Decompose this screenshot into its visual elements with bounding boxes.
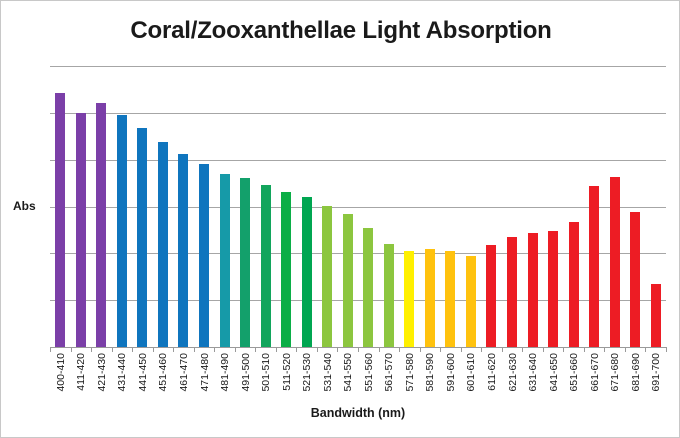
x-axis-tick [132, 347, 133, 352]
bar [220, 174, 230, 347]
x-axis-tick [399, 347, 400, 352]
x-axis-tick-label: 431-440 [116, 353, 127, 392]
bar [548, 231, 558, 347]
bar-series [50, 66, 666, 347]
x-axis-tick-label: 411-420 [75, 353, 86, 391]
bar [528, 233, 538, 347]
bar [96, 103, 106, 347]
x-axis-tick-label: 561-570 [383, 353, 394, 392]
bar [589, 186, 599, 347]
bar [281, 192, 291, 347]
x-axis-tick [625, 347, 626, 352]
x-axis-title: Bandwidth (nm) [50, 406, 666, 420]
bar [610, 177, 620, 347]
x-axis-tick [112, 347, 113, 352]
x-axis-tick [358, 347, 359, 352]
x-axis-tick [543, 347, 544, 352]
x-axis-tick [522, 347, 523, 352]
bar [343, 214, 353, 347]
x-axis-tick-label: 661-670 [589, 353, 600, 392]
x-axis-tick [604, 347, 605, 352]
bar [507, 237, 517, 347]
x-axis-tick-label: 421-430 [96, 353, 107, 392]
bar [55, 93, 65, 347]
bar [261, 185, 271, 348]
bar [630, 212, 640, 347]
x-axis-tick-label: 581-590 [424, 353, 435, 392]
x-axis-tick [379, 347, 380, 352]
bar [137, 128, 147, 347]
chart-title: Coral/Zooxanthellae Light Absorption [1, 17, 680, 45]
x-axis-tick [194, 347, 195, 352]
x-axis-tick-label: 571-580 [404, 353, 415, 392]
x-axis-tick-label: 601-610 [465, 353, 476, 392]
x-axis-tick-label: 451-460 [157, 353, 168, 392]
chart-container: Coral/Zooxanthellae Light Absorption Abs… [0, 0, 680, 438]
x-axis-tick [584, 347, 585, 352]
bar [240, 178, 250, 347]
x-axis-tick [276, 347, 277, 352]
x-axis-tick-label: 651-660 [568, 353, 579, 392]
x-axis-tick [50, 347, 51, 352]
x-axis-tick-label: 611-620 [486, 353, 497, 391]
bar [569, 222, 579, 347]
x-axis-tick [502, 347, 503, 352]
x-axis-tick-label: 671-680 [609, 353, 620, 392]
bar [76, 113, 86, 347]
x-axis-tick-label: 481-490 [219, 353, 230, 392]
x-axis-tick-label: 461-470 [178, 353, 189, 392]
x-axis-tick-label: 491-500 [240, 353, 251, 392]
x-axis-tick-label: 641-650 [548, 353, 559, 392]
bar [322, 206, 332, 347]
bar [384, 244, 394, 348]
x-axis-tick [420, 347, 421, 352]
x-axis-tick [317, 347, 318, 352]
bar [466, 256, 476, 347]
x-axis-tick-label: 621-630 [507, 353, 518, 392]
bar [486, 245, 496, 347]
x-axis-tick-label: 521-530 [301, 353, 312, 392]
bar [199, 164, 209, 347]
x-axis-tick [173, 347, 174, 352]
x-axis-tick [91, 347, 92, 352]
x-axis-tick-label: 691-700 [650, 353, 661, 392]
x-axis-tick-label: 681-690 [630, 353, 641, 392]
x-axis-tick-label: 471-480 [199, 353, 210, 392]
x-axis-tick [461, 347, 462, 352]
x-axis-tick [481, 347, 482, 352]
x-axis-tick-label: 631-640 [527, 353, 538, 392]
x-axis-tick [153, 347, 154, 352]
plot-area [50, 66, 666, 347]
x-axis-tick [563, 347, 564, 352]
x-axis-tick [296, 347, 297, 352]
x-axis-tick-label: 531-540 [322, 353, 333, 392]
x-axis-tick-label: 551-560 [363, 353, 374, 392]
x-axis-tick [440, 347, 441, 352]
bar [158, 142, 168, 347]
x-axis-tick [255, 347, 256, 352]
x-axis-tick-label: 501-510 [260, 353, 271, 392]
bar [178, 154, 188, 347]
x-axis-tick-label: 511-520 [281, 353, 292, 391]
x-axis-tick [71, 347, 72, 352]
bar [651, 284, 661, 347]
bar [302, 197, 312, 347]
y-axis-title: Abs [13, 199, 36, 213]
bar [404, 251, 414, 347]
x-axis-tick-label: 400-410 [55, 353, 66, 392]
x-axis-tick-label: 441-450 [137, 353, 148, 392]
bar [425, 249, 435, 347]
x-axis-tick [666, 347, 667, 352]
x-axis-tick-label: 541-550 [342, 353, 353, 392]
x-axis-tick [337, 347, 338, 352]
x-axis-tick [645, 347, 646, 352]
bar [363, 228, 373, 347]
bar [445, 251, 455, 347]
x-axis-tick [235, 347, 236, 352]
x-axis-tick-label: 591-600 [445, 353, 456, 392]
bar [117, 115, 127, 347]
x-axis-tick [214, 347, 215, 352]
